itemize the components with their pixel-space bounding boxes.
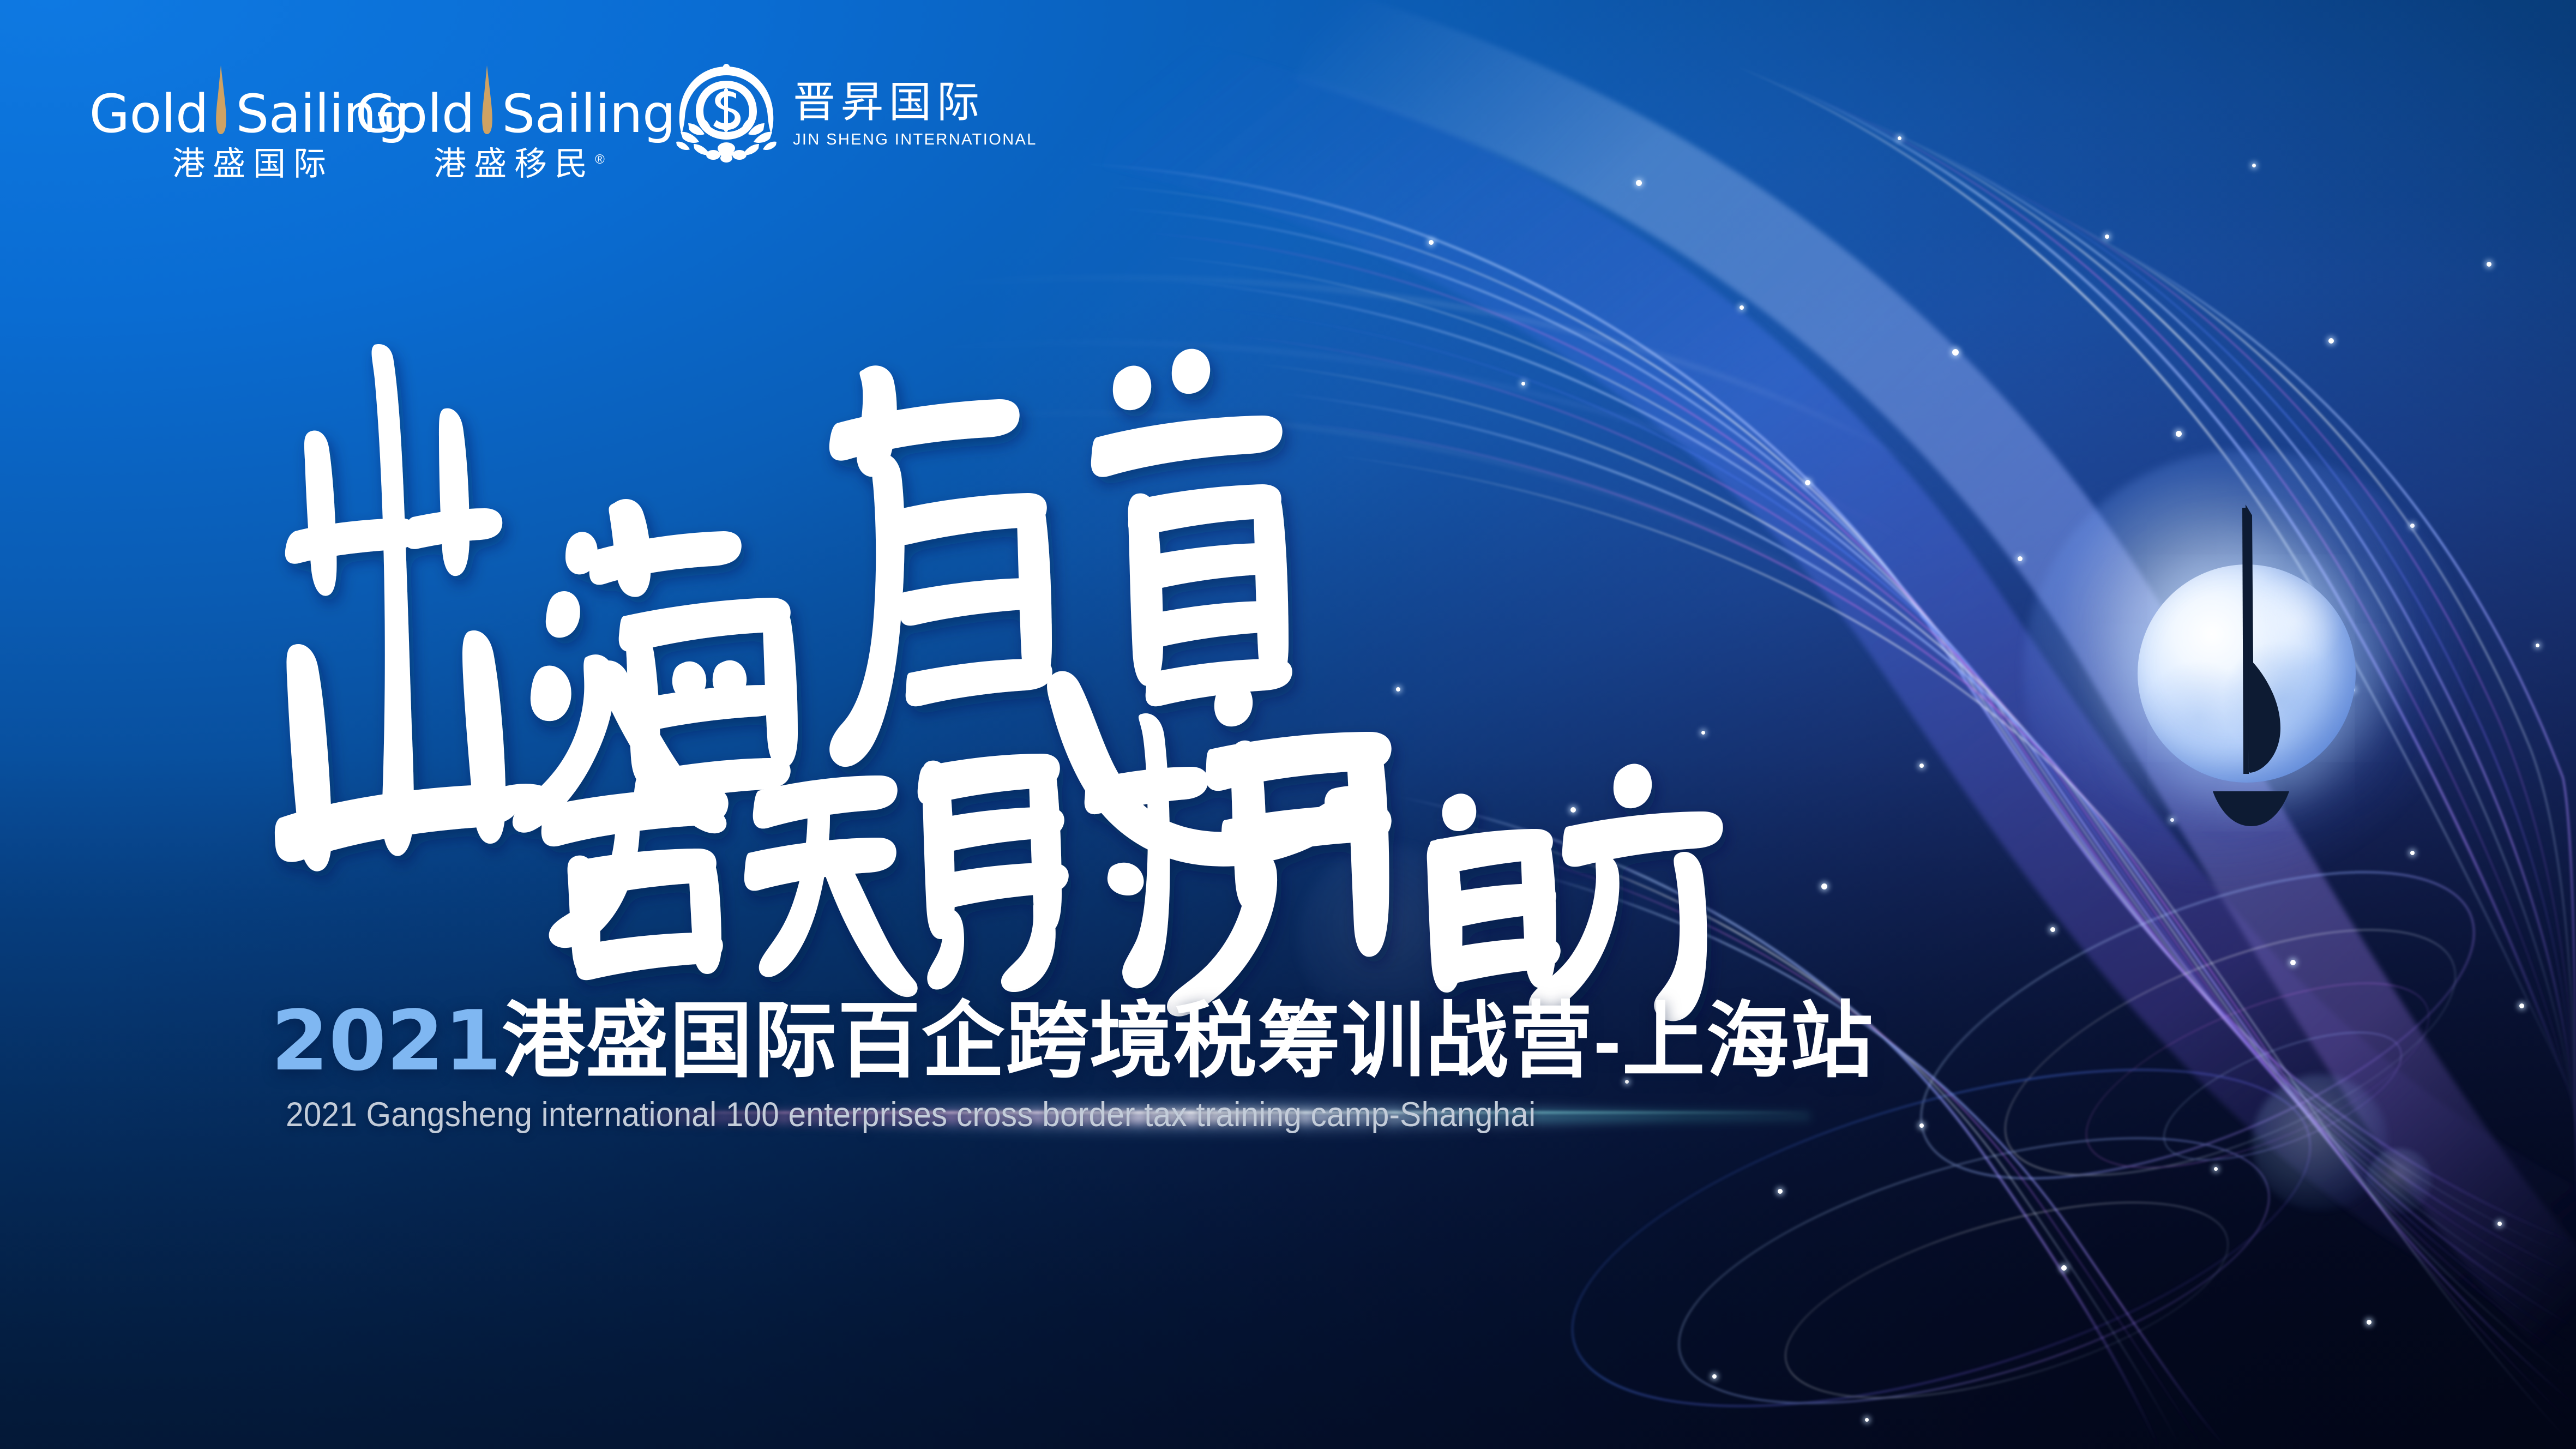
registered-mark-icon: ® bbox=[595, 152, 605, 167]
logo-english-name: JIN SHENG INTERNATIONAL bbox=[793, 132, 1037, 148]
subtitle-chinese-text: 港盛国际百企跨境税筹训战营-上海站 bbox=[502, 995, 1874, 1087]
logo-bar: Gold Sailing 港盛国际 Gold Sailing bbox=[121, 60, 1037, 181]
sailboat-icon bbox=[2181, 499, 2323, 826]
logo-text-block: 晋昇国际 JIN SHENG INTERNATIONAL bbox=[793, 81, 1037, 148]
logo-chinese-name: 港盛国际 bbox=[165, 148, 334, 181]
moon-and-sailboat bbox=[2105, 532, 2388, 815]
logo-gold-sailing-immigration[interactable]: Gold Sailing 港盛移民® bbox=[387, 60, 643, 181]
subtitle-english: 2021 Gangsheng international 100 enterpr… bbox=[286, 1098, 1536, 1132]
logo-wordmark: Gold Sailing bbox=[356, 60, 676, 140]
logo-chinese-text: 港盛移民 bbox=[434, 146, 595, 182]
logo-word-sailing: Sailing bbox=[502, 88, 675, 140]
subtitle-chinese: 2021港盛国际百企跨境税筹训战营-上海站 bbox=[271, 1000, 1874, 1083]
logo-chinese-name: 港盛移民® bbox=[426, 148, 605, 181]
logo-gold-sailing-international[interactable]: Gold Sailing 港盛国际 bbox=[121, 60, 377, 181]
logo-chinese-name: 晋昇国际 bbox=[793, 81, 1037, 123]
subtitle-year: 2021 bbox=[271, 993, 502, 1089]
promotional-banner: Gold Sailing 港盛国际 Gold Sailing bbox=[0, 0, 2576, 1449]
sail-icon bbox=[476, 65, 499, 137]
logo-jin-sheng-international[interactable]: 晋昇国际 JIN SHENG INTERNATIONAL bbox=[672, 62, 1037, 166]
logo-word-gold: Gold bbox=[356, 88, 475, 140]
wreath-emblem-icon bbox=[672, 62, 781, 166]
logo-word-gold: Gold bbox=[89, 88, 209, 140]
sail-icon bbox=[209, 65, 233, 137]
